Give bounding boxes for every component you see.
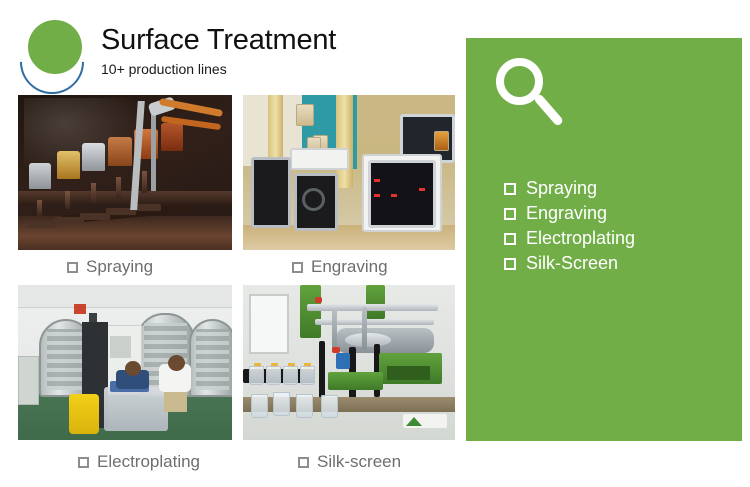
square-bullet-icon [67, 262, 78, 273]
square-bullet-icon [78, 457, 89, 468]
photo-spraying-scene [18, 95, 232, 250]
green-feature-panel: Spraying Engraving Electroplating Silk-S… [466, 38, 742, 441]
caption-label: Spraying [86, 257, 153, 277]
list-item[interactable]: Silk-Screen [504, 251, 635, 276]
list-item-label: Silk-Screen [526, 253, 618, 274]
caption-spraying: Spraying [67, 257, 153, 277]
magnifier-icon [496, 58, 580, 144]
company-logo [18, 18, 90, 90]
list-item[interactable]: Electroplating [504, 226, 635, 251]
square-bullet-icon [504, 183, 516, 195]
magnifier-handle [533, 93, 564, 127]
list-item-label: Electroplating [526, 228, 635, 249]
caption-engraving: Engraving [292, 257, 388, 277]
list-item[interactable]: Engraving [504, 201, 635, 226]
slide-root: Surface Treatment 10+ production lines [0, 0, 750, 487]
list-item-label: Spraying [526, 178, 597, 199]
photo-electroplating [18, 285, 232, 440]
photo-silk-screen [243, 285, 455, 440]
square-bullet-icon [298, 457, 309, 468]
page-subtitle: 10+ production lines [101, 60, 227, 78]
list-item-label: Engraving [526, 203, 607, 224]
caption-silk-screen: Silk-screen [298, 452, 401, 472]
photo-silk-screen-scene [243, 285, 455, 440]
photo-engraving [243, 95, 455, 250]
caption-label: Silk-screen [317, 452, 401, 472]
square-bullet-icon [504, 258, 516, 270]
logo-circle-icon [28, 20, 82, 74]
page-title: Surface Treatment [101, 22, 336, 58]
caption-electroplating: Electroplating [78, 452, 200, 472]
caption-label: Engraving [311, 257, 388, 277]
square-bullet-icon [292, 262, 303, 273]
treatment-list: Spraying Engraving Electroplating Silk-S… [504, 176, 635, 276]
caption-label: Electroplating [97, 452, 200, 472]
square-bullet-icon [504, 233, 516, 245]
square-bullet-icon [504, 208, 516, 220]
photo-engraving-scene [243, 95, 455, 250]
photo-electroplating-scene [18, 285, 232, 440]
machine-brand-logo [403, 414, 447, 428]
list-item[interactable]: Spraying [504, 176, 635, 201]
photo-spraying [18, 95, 232, 250]
